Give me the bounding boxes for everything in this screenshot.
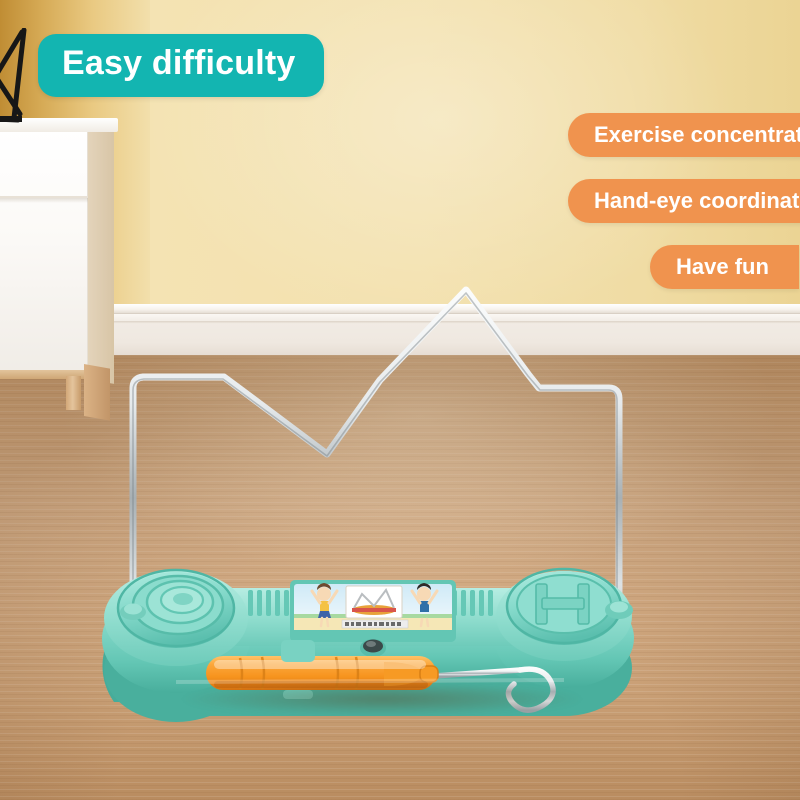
cabinet-front [0,130,88,378]
label-product-picture [346,586,402,618]
badge-hand-eye-coordination[interactable]: Hand-eye coordination [568,179,800,223]
toy-floor-shadow [102,676,662,722]
cabinet-drawer-shadow [0,198,88,203]
product-scene: Easy difficulty Exercise concentration H… [0,0,800,800]
badge-have-fun[interactable]: Have fun [650,245,799,289]
badge-easy-difficulty[interactable]: Easy difficulty [38,34,324,97]
label-caption-strip [342,620,408,628]
cabinet-leg-right [66,376,81,410]
handle-clip [281,640,315,662]
badge-exercise-concentration[interactable]: Exercise concentration [568,113,800,157]
toy-illustration [84,278,684,728]
wire-loop-game-toy [84,278,684,728]
left-spiral-dial [118,570,234,648]
